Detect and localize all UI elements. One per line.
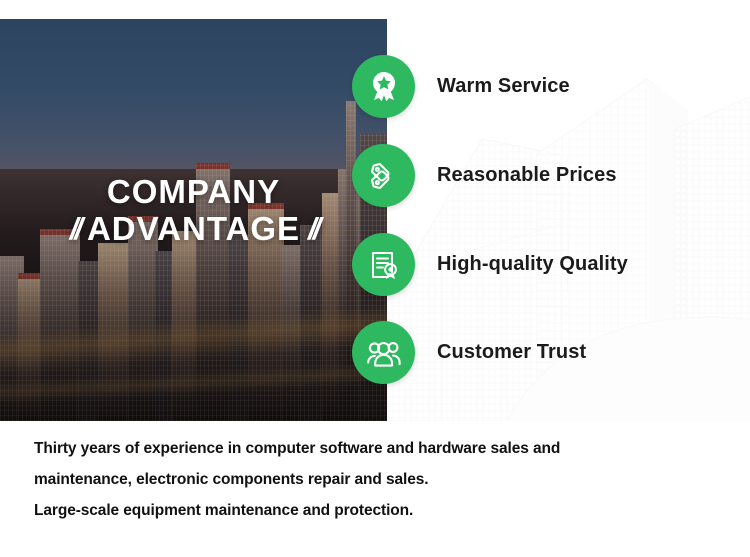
feature-label: Customer Trust xyxy=(437,341,586,364)
medal-icon xyxy=(352,55,415,118)
company-advantage-banner: COMPANY // ADVANTAGE // Warm Service xyxy=(0,19,750,421)
description-line-2: maintenance, electronic components repai… xyxy=(34,464,724,495)
feature-item-customer-trust[interactable]: Customer Trust xyxy=(352,321,586,384)
description-line-3: Large-scale equipment maintenance and pr… xyxy=(34,495,724,526)
description-line-1: Thirty years of experience in computer s… xyxy=(34,433,724,464)
feature-label: Reasonable Prices xyxy=(437,164,617,187)
feature-item-high-quality[interactable]: High-quality Quality xyxy=(352,233,628,296)
feature-item-warm-service[interactable]: Warm Service xyxy=(352,55,570,118)
feature-label: High-quality Quality xyxy=(437,253,628,276)
feature-item-reasonable-prices[interactable]: Reasonable Prices xyxy=(352,144,617,207)
users-icon xyxy=(352,321,415,384)
feature-list: Warm Service Reas xyxy=(0,19,750,421)
price-tags-icon xyxy=(352,144,415,207)
description-block: Thirty years of experience in computer s… xyxy=(34,433,724,526)
feature-label: Warm Service xyxy=(437,75,570,98)
certificate-icon xyxy=(352,233,415,296)
